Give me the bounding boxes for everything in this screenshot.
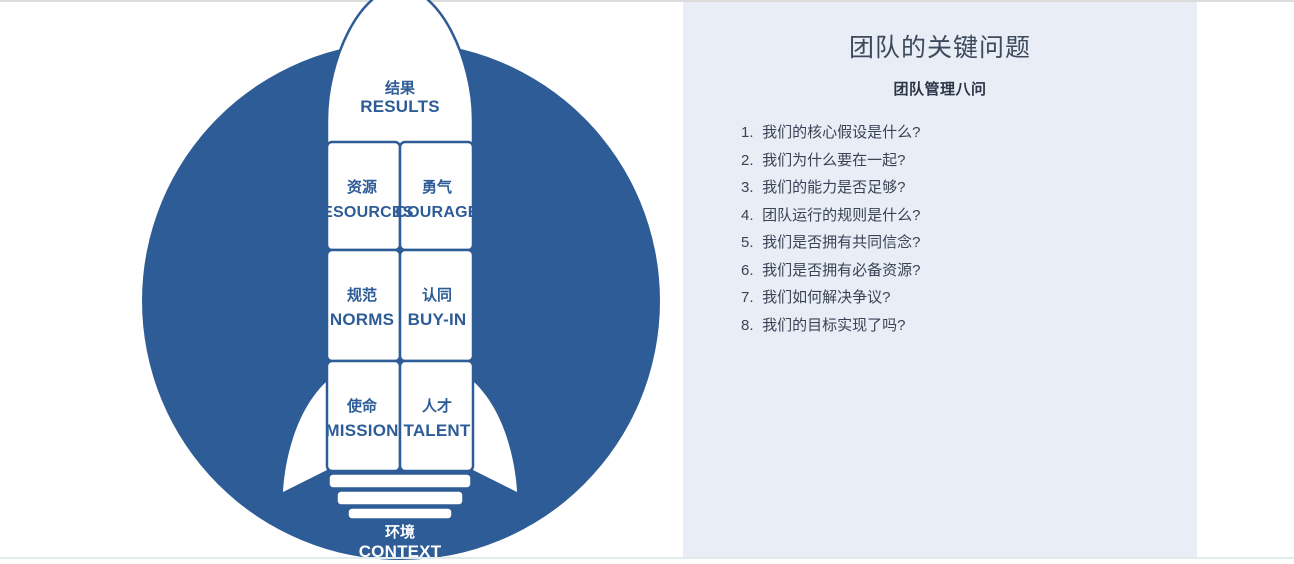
question-text: 我们的能力是否足够? [762,179,905,196]
rocket-nose-cone [327,0,473,150]
question-list: 1. 我们的核心假设是什么?2. 我们为什么要在一起?3. 我们的能力是否足够?… [683,99,1197,345]
cell-label-en-mission: MISSION [325,421,398,440]
cell-talent [400,361,473,471]
cell-label-cn-norms: 规范 [347,286,377,304]
question-item: 7. 我们如何解决争议? [741,290,1197,318]
slide-canvas: 结果 RESULTS 资源 RESOURCES 勇气 COURAGE 规范 NO… [0,0,1294,564]
rocket-diagram: 结果 RESULTS 资源 RESOURCES 勇气 COURAGE 规范 NO… [0,0,683,564]
cell-buyin [400,250,473,361]
cell-label-cn-talent: 人才 [422,397,452,415]
cell-label-cn-courage: 勇气 [422,178,452,196]
question-text: 我们是否拥有共同信念? [762,234,920,251]
engine-bar-1 [329,474,471,488]
nose-label-en: RESULTS [360,97,439,116]
cell-courage [400,142,473,250]
question-text: 我们是否拥有必备资源? [762,262,920,279]
key-questions-panel: 团队的关键问题 团队管理八问 1. 我们的核心假设是什么?2. 我们为什么要在一… [683,2,1197,558]
question-item: 6. 我们是否拥有必备资源? [741,263,1197,291]
question-text: 我们如何解决争议? [762,289,890,306]
question-number: 4. [741,208,758,223]
cell-label-cn-mission: 使命 [346,397,378,415]
cell-label-cn-buyin: 认同 [422,286,452,304]
question-number: 2. [741,153,758,168]
question-item: 2. 我们为什么要在一起? [741,153,1197,181]
cell-label-en-talent: TALENT [404,421,471,440]
question-number: 6. [741,263,758,278]
engine-bar-3 [348,508,452,519]
question-item: 4. 团队运行的规则是什么? [741,208,1197,236]
cell-mission [327,361,400,471]
question-item: 1. 我们的核心假设是什么? [741,125,1197,153]
question-text: 团队运行的规则是什么? [762,207,920,224]
question-number: 5. [741,235,758,250]
cell-label-cn-resources: 资源 [347,178,377,196]
question-number: 1. [741,125,758,140]
cell-label-en-buyin: BUY-IN [408,310,467,329]
page-subtitle: 团队管理八问 [683,64,1197,99]
base-label-cn: 环境 [385,523,415,541]
question-number: 3. [741,180,758,195]
question-text: 我们的目标实现了吗? [762,317,905,334]
question-item: 3. 我们的能力是否足够? [741,180,1197,208]
cell-label-en-courage: COURAGE [395,204,478,221]
question-item: 5. 我们是否拥有共同信念? [741,235,1197,263]
cell-label-en-norms: NORMS [330,310,394,329]
question-text: 我们的核心假设是什么? [762,124,920,141]
engine-bar-2 [337,491,463,505]
bottom-divider-line [0,557,1294,559]
nose-label-cn: 结果 [385,79,416,97]
page-title: 团队的关键问题 [683,2,1197,64]
cell-norms [327,250,400,361]
question-number: 8. [741,318,758,333]
cell-resources [327,142,400,250]
question-text: 我们为什么要在一起? [762,152,905,169]
question-item: 8. 我们的目标实现了吗? [741,318,1197,346]
rocket-engine-stack [329,474,471,519]
question-number: 7. [741,290,758,305]
